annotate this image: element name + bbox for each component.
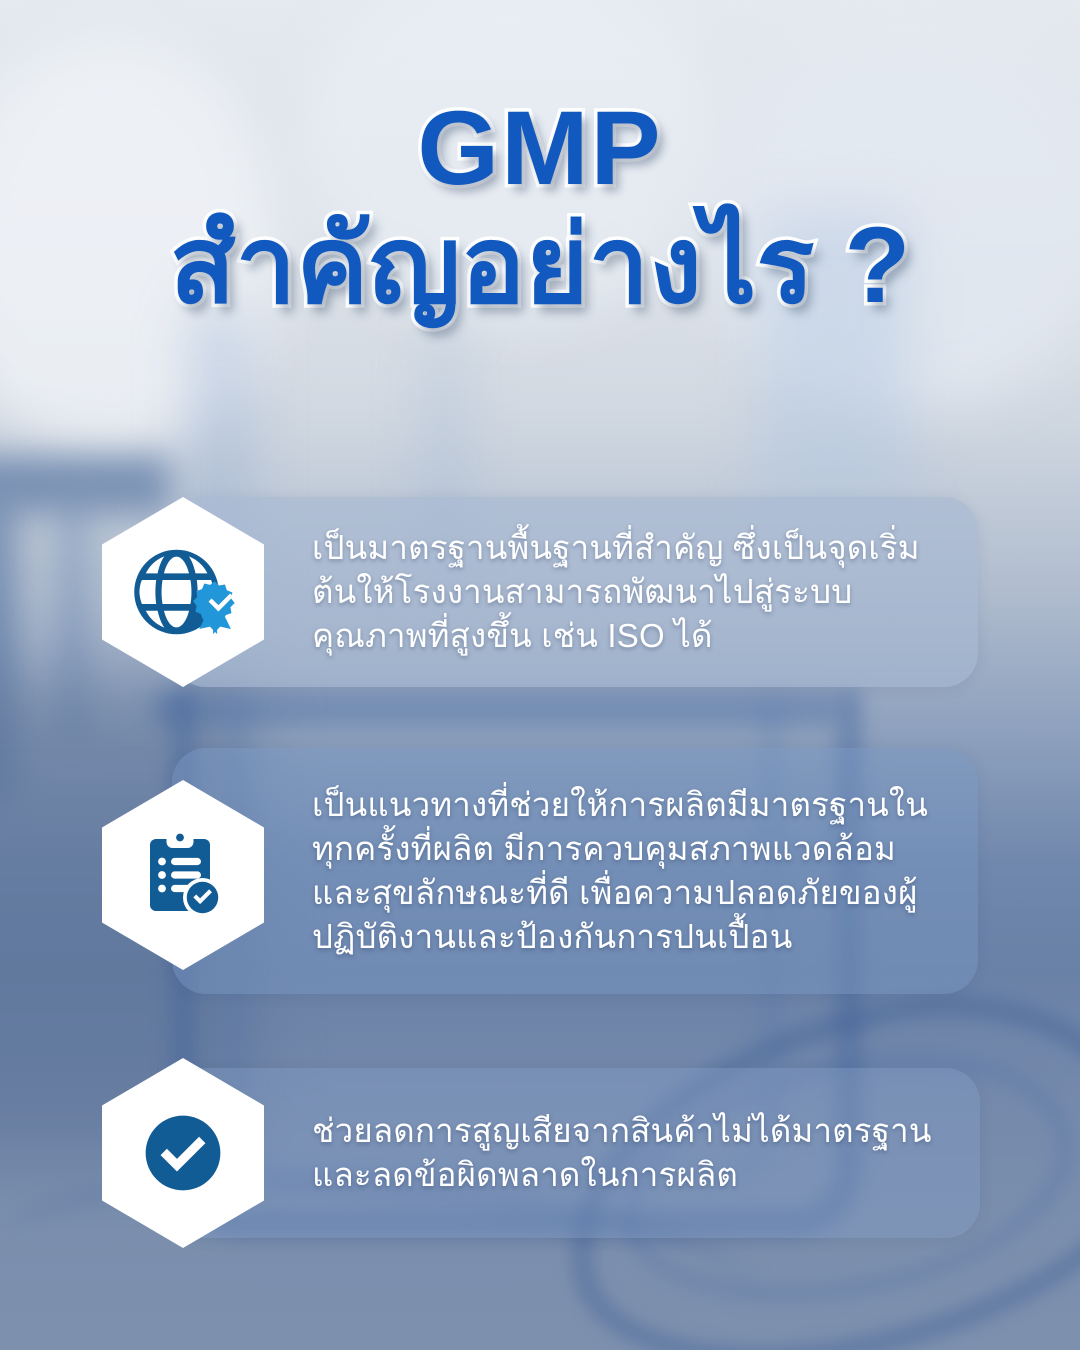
check-circle-icon xyxy=(131,1101,235,1205)
benefit-card-2: เป็นแนวทางที่ช่วยให้การผลิตมีมาตรฐานในทุ… xyxy=(172,748,978,994)
benefit-card-2-text: เป็นแนวทางที่ช่วยให้การผลิตมีมาตรฐานในทุ… xyxy=(312,783,952,959)
benefit-card-3-text: ช่วยลดการสูญเสียจากสินค้าไม่ได้มาตรฐาน แ… xyxy=(312,1109,954,1197)
benefit-card-1: เป็นมาตรฐานพื้นฐานที่สำคัญ ซึ่งเป็นจุดเร… xyxy=(172,497,978,687)
benefit-card-3: ช่วยลดการสูญเสียจากสินค้าไม่ได้มาตรฐาน แ… xyxy=(172,1068,980,1238)
title-sub-text: สำคัญอย่างไร ? xyxy=(0,211,1080,319)
clipboard-checklist-icon xyxy=(135,827,231,923)
poster-title: GMP สำคัญอย่างไร ? xyxy=(0,96,1080,319)
benefit-card-1-text: เป็นมาตรฐานพื้นฐานที่สำคัญ ซึ่งเป็นจุดเร… xyxy=(312,526,952,658)
globe-certificate-icon xyxy=(131,540,235,644)
title-main-text: GMP xyxy=(0,96,1080,201)
gmp-infographic-poster: GMP สำคัญอย่างไร ? เป็นมาตรฐานพื้นฐานที่… xyxy=(0,0,1080,1350)
